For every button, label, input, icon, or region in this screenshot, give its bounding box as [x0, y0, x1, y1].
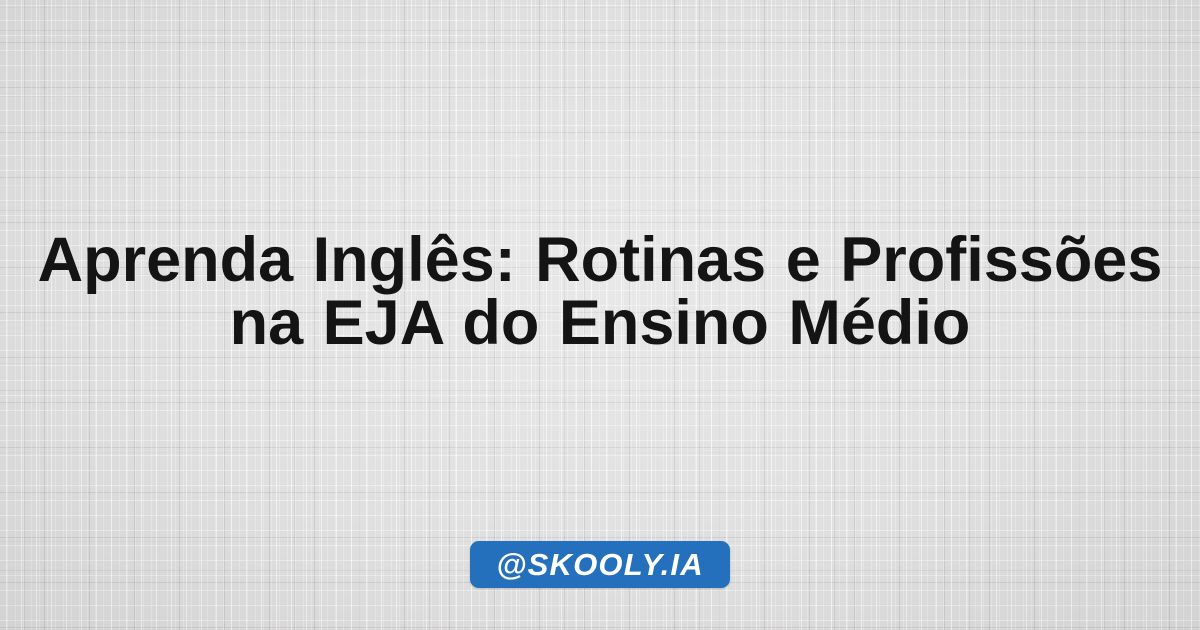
title-line-1: Aprenda Inglês: Rotinas e Profissões	[38, 225, 1163, 295]
title-block: Aprenda Inglês: Rotinas e Profissões na …	[30, 229, 1170, 355]
page-title: Aprenda Inglês: Rotinas e Profissões na …	[30, 229, 1170, 355]
handle-badge[interactable]: @SKOOLY.IA	[470, 541, 730, 588]
banner-canvas: Aprenda Inglês: Rotinas e Profissões na …	[0, 0, 1200, 630]
handle-badge-container: @SKOOLY.IA	[0, 541, 1200, 588]
title-line-2: na EJA do Ensino Médio	[230, 288, 971, 358]
handle-badge-label: @SKOOLY.IA	[496, 549, 704, 580]
